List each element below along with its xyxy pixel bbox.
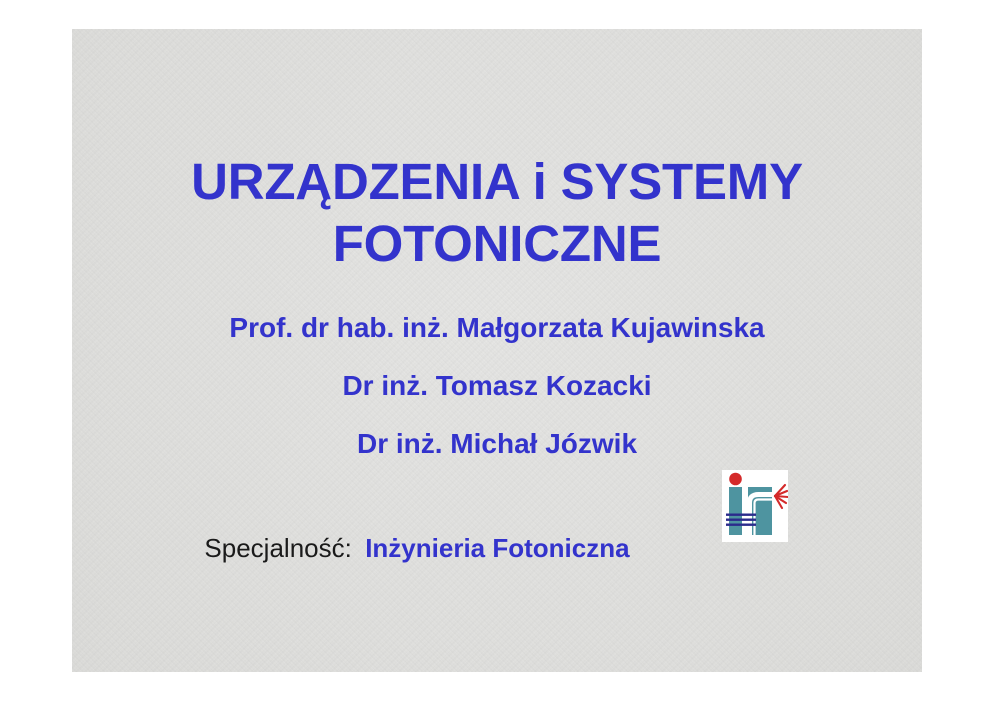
title-line-1: URZĄDZENIA i SYSTEMY: [72, 151, 922, 213]
author-name-2: Dr inż. Tomasz Kozacki: [72, 368, 922, 404]
page-title: URZĄDZENIA i SYSTEMY FOTONICZNE: [72, 151, 922, 275]
author-name-1: Prof. dr hab. inż. Małgorzata Kujawinska: [72, 310, 922, 346]
presentation-page: URZĄDZENIA i SYSTEMY FOTONICZNE Prof. dr…: [0, 0, 992, 701]
specialization-line: Specjalność: Inżynieria Fotoniczna: [72, 533, 922, 564]
title-slide: URZĄDZENIA i SYSTEMY FOTONICZNE Prof. dr…: [72, 29, 922, 672]
author-name-3: Dr inż. Michał Józwik: [72, 426, 922, 462]
specialization-value: Inżynieria Fotoniczna: [365, 533, 629, 563]
title-line-2: FOTONICZNE: [72, 213, 922, 275]
institute-logo-icon: [722, 470, 788, 542]
specialization-label: Specjalność:: [204, 533, 351, 563]
institute-logo: [722, 470, 788, 542]
